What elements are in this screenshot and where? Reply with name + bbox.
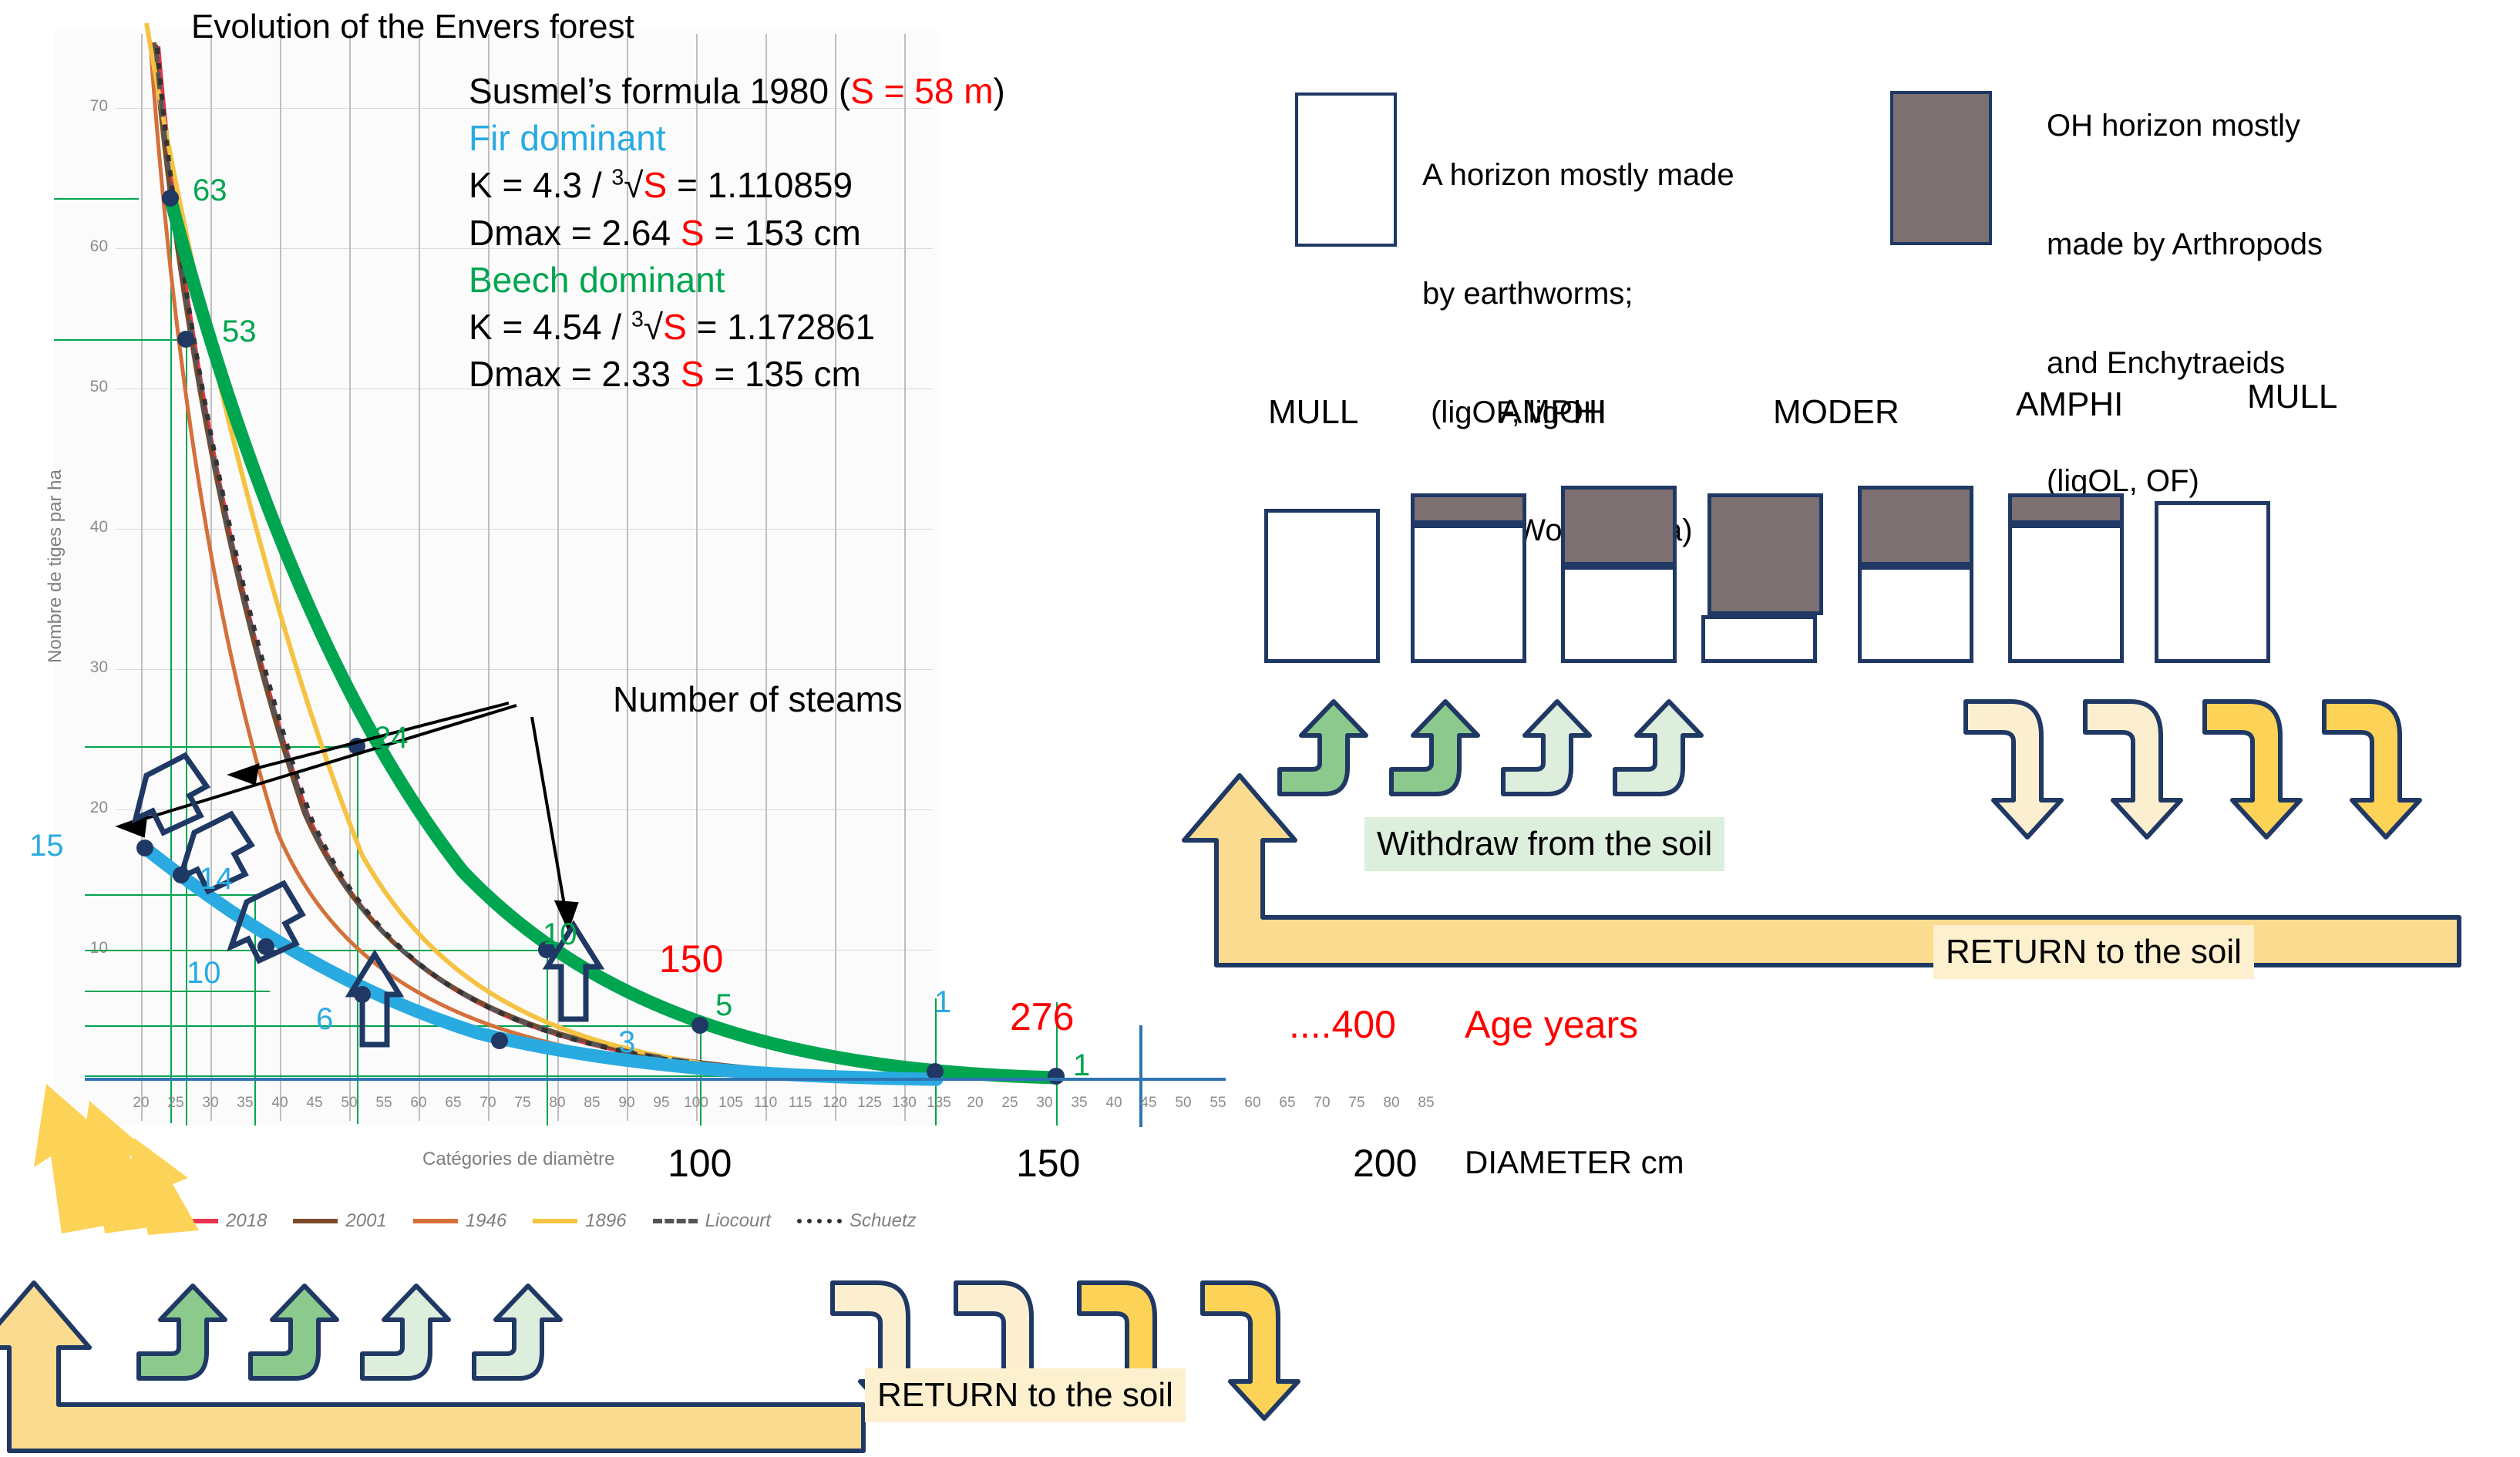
legend-swatch-liocourt: [653, 1219, 698, 1223]
curve-fir-dominant: [145, 848, 937, 1079]
right-return-loop: [1156, 771, 2520, 971]
xtick-105: 105: [712, 1095, 750, 1112]
oh-horizon-legend-text: OH horizon mostly made by Arthropods and…: [2047, 28, 2323, 540]
xtick2-40: 40: [1095, 1095, 1133, 1112]
point-label-6: 6: [316, 1002, 333, 1037]
a-horizon-amphi-1: [1411, 524, 1526, 663]
fir-k-prefix: K = 4.3 /: [469, 165, 611, 205]
xtick2-35: 35: [1060, 1095, 1099, 1112]
beech-dmax-s: S: [681, 354, 705, 394]
xtick-65: 65: [434, 1095, 473, 1112]
legend-label-1896: 1896: [585, 1210, 626, 1232]
legend-label-liocourt: Liocourt: [705, 1210, 771, 1232]
beech-dmax-line: Dmax = 2.33 S = 135 cm: [469, 351, 1005, 398]
radical-icon: √: [624, 165, 643, 205]
axis-label-diameter: DIAMETER cm: [1465, 1144, 1684, 1181]
xtick2-20: 20: [956, 1095, 994, 1112]
legend-item-2001: 2001: [293, 1210, 386, 1232]
legend-item-liocourt: Liocourt: [653, 1210, 771, 1232]
legend-swatch-schuetz: [797, 1219, 842, 1223]
oh-horizon-moder-1: [1561, 486, 1677, 566]
xtick-110: 110: [746, 1095, 785, 1112]
legend-item-1896: 1896: [533, 1210, 626, 1232]
annotation-age-years: Age years: [1465, 1002, 1638, 1047]
legend-swatch-2001: [293, 1219, 338, 1223]
formula-title-text: Susmel’s formula 1980 (: [469, 71, 850, 111]
point-label-15: 15: [29, 829, 64, 863]
return-loop-shape-right: [1184, 776, 2459, 965]
annotation-276-red: 276: [1010, 994, 1074, 1039]
point-label-24: 24: [374, 721, 409, 755]
chart-legend: 2018200119461896LiocourtSchuetz: [173, 1210, 917, 1232]
beech-k-value: = 1.172861: [687, 307, 875, 347]
radical-icon-2: √: [644, 307, 663, 347]
annotation-150-red: 150: [659, 937, 723, 981]
return-banner-bottom: RETURN to the soil: [865, 1368, 1186, 1422]
point-label-53: 53: [222, 315, 257, 349]
a-horizon-mull-2: [2155, 501, 2270, 663]
a-horizon-line2: by earthworms;: [1422, 274, 1734, 314]
beech-k-s: S: [663, 307, 687, 347]
xtick-60: 60: [399, 1095, 438, 1112]
soil-label-1-amphi: AMPHI: [1499, 393, 1607, 432]
xtick2-80: 80: [1372, 1095, 1411, 1112]
xtick-50: 50: [330, 1095, 368, 1112]
legend-item-schuetz: Schuetz: [797, 1210, 917, 1232]
point-label-1-blue: 1: [934, 985, 951, 1020]
a-horizon-moder-2: [1701, 615, 1817, 663]
oh-horizon-line1: OH horizon mostly: [2047, 106, 2323, 146]
beech-k-prefix: K = 4.54 /: [469, 307, 631, 347]
xtick-90: 90: [607, 1095, 646, 1112]
legend-swatch-1896: [533, 1219, 577, 1223]
soil-label-4-mull: MULL: [2247, 378, 2337, 416]
point-label-3: 3: [618, 1025, 635, 1060]
a-horizon-amphi-2: [2008, 524, 2124, 663]
page-title: Evolution of the Envers forest: [191, 8, 634, 46]
fir-dmax-value: = 153 cm: [705, 213, 861, 253]
beech-dmax-prefix: Dmax = 2.33: [469, 354, 681, 394]
xtick2-50: 50: [1164, 1095, 1203, 1112]
beech-k-line: K = 4.54 / 3√S = 1.172861: [469, 304, 1005, 351]
xtick-75: 75: [503, 1095, 542, 1112]
xtick2-60: 60: [1233, 1095, 1272, 1112]
fir-dmax-s: S: [681, 213, 705, 253]
yellow-uptrend-arrows: [31, 979, 262, 1241]
xtick-40: 40: [261, 1095, 299, 1112]
xtick-85: 85: [573, 1095, 611, 1112]
legend-label-2001: 2001: [345, 1210, 386, 1232]
scale-label-100: 100: [668, 1141, 732, 1186]
xtick-100: 100: [677, 1095, 715, 1112]
a-horizon-moder-3: [1858, 566, 1973, 663]
fir-k-s: S: [644, 165, 668, 205]
cube-root-index: 3: [611, 166, 624, 190]
annotation-number-of-steams: Number of steams: [613, 678, 903, 720]
point-label-1-green: 1: [1073, 1048, 1090, 1083]
xtick-125: 125: [850, 1095, 889, 1112]
xtick2-70: 70: [1303, 1095, 1341, 1112]
fir-dmax-line: Dmax = 2.64 S = 153 cm: [469, 210, 1005, 257]
return-loop-shape-bottom: [0, 1283, 863, 1451]
xtick-55: 55: [365, 1095, 403, 1112]
formula-site-index: S = 58 m: [850, 71, 993, 111]
oh-horizon-moder-2: [1707, 493, 1823, 615]
scale-label-150: 150: [1016, 1141, 1080, 1186]
xtick2-65: 65: [1268, 1095, 1307, 1112]
legend-swatch-1946: [413, 1219, 458, 1223]
x-axis-title: Catégories de diamètre: [422, 1149, 614, 1170]
point-label-63: 63: [193, 173, 227, 208]
point-label-10-green: 10: [543, 917, 577, 952]
formula-title-close: ): [994, 71, 1005, 111]
legend-label-schuetz: Schuetz: [850, 1210, 917, 1232]
formula-title-line: Susmel’s formula 1980 (S = 58 m): [469, 68, 1005, 115]
xtick-95: 95: [642, 1095, 681, 1112]
xtick-80: 80: [538, 1095, 577, 1112]
oh-horizon-amphi-1: [1411, 493, 1526, 524]
scale-label-200: 200: [1353, 1141, 1417, 1186]
susmel-formula-block: Susmel’s formula 1980 (S = 58 m) Fir dom…: [469, 68, 1005, 398]
oh-horizon-swatch: [1890, 91, 1992, 245]
xtick2-45: 45: [1129, 1095, 1168, 1112]
xtick2-75: 75: [1337, 1095, 1376, 1112]
xtick2-25: 25: [991, 1095, 1029, 1112]
point-label-14: 14: [199, 862, 234, 897]
cube-root-index-2: 3: [631, 308, 644, 332]
oh-horizon-amphi-2: [2008, 493, 2124, 524]
xtick2-85: 85: [1407, 1095, 1445, 1112]
a-horizon-line1: A horizon mostly made: [1422, 156, 1734, 195]
soil-label-0-mull: MULL: [1268, 393, 1358, 432]
xtick-115: 115: [781, 1095, 819, 1112]
xtick2-55: 55: [1199, 1095, 1237, 1112]
soil-label-3-amphi: AMPHI: [2016, 385, 2123, 424]
oh-horizon-line3: and Enchytraeids: [2047, 344, 2323, 383]
xtick-45: 45: [295, 1095, 334, 1112]
soil-label-2-moder: MODER: [1773, 393, 1899, 432]
fir-k-line: K = 4.3 / 3√S = 1.110859: [469, 162, 1005, 209]
xtick-135: 135: [920, 1095, 958, 1112]
xtick-130: 130: [885, 1095, 924, 1112]
return-banner-right: RETURN to the soil: [1933, 925, 2254, 979]
point-label-5: 5: [715, 988, 732, 1023]
fir-dominant-heading: Fir dominant: [469, 115, 1005, 162]
return-arrow-bottom-4: [1203, 1283, 1298, 1418]
xtick-70: 70: [469, 1095, 507, 1112]
xtick2-30: 30: [1025, 1095, 1064, 1112]
fir-dmax-prefix: Dmax = 2.64: [469, 213, 681, 253]
oh-horizon-line2: made by Arthropods: [2047, 225, 2323, 264]
legend-item-1946: 1946: [413, 1210, 506, 1232]
a-horizon-moder-1: [1561, 566, 1677, 663]
xtick-120: 120: [816, 1095, 854, 1112]
a-horizon-swatch: [1295, 93, 1397, 247]
annotation-400-red: ....400: [1289, 1002, 1396, 1047]
a-horizon-mull-1: [1264, 509, 1380, 663]
fir-k-value: = 1.110859: [667, 165, 853, 205]
oh-horizon-moder-3: [1858, 486, 1973, 566]
beech-dmax-value: = 135 cm: [705, 354, 861, 394]
legend-label-1946: 1946: [466, 1210, 506, 1232]
beech-dominant-heading: Beech dominant: [469, 257, 1005, 304]
bottom-return-loop: [0, 1303, 910, 1457]
